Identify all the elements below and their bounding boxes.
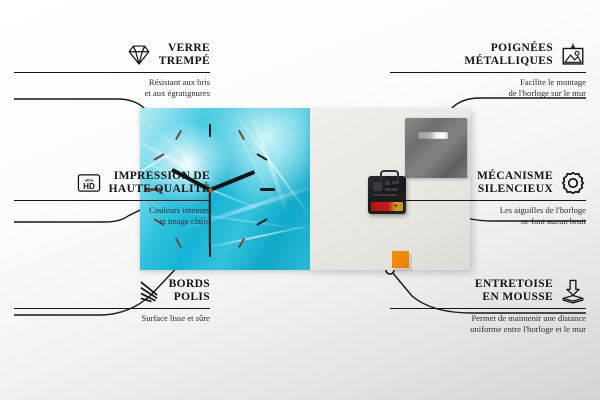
feature-divider	[14, 72, 210, 73]
feature-mecanisme-silencieux[interactable]: MÉCANISME SILENCIEUX Les aiguilles de l'…	[390, 170, 586, 226]
feature-description: Permet de maintenir une distance uniform…	[390, 313, 586, 334]
feature-title: MÉCANISME SILENCIEUX	[477, 170, 553, 196]
tick-11	[175, 130, 182, 141]
svg-text:HD: HD	[83, 182, 95, 191]
arrow-down-foam-icon	[560, 278, 586, 304]
feature-bords-polis[interactable]: BORDS POLIS Surface lisse et sûre	[14, 278, 210, 324]
feature-divider	[14, 200, 210, 201]
gear-icon	[560, 170, 586, 196]
feature-verre-trempe[interactable]: VERRE TREMPÉ Résistant aux bris et aux é…	[14, 42, 210, 98]
feature-description: Surface lisse et sûre	[14, 313, 210, 324]
feature-divider	[14, 308, 210, 309]
feature-title: IMPRESSION DE HAUTE QUALITÉ	[109, 170, 210, 196]
feature-title: POIGNÉES MÉTALLIQUES	[464, 42, 553, 68]
feature-description: Les aiguilles de l'horloge ne font aucun…	[390, 205, 586, 226]
feature-description: Résistant aux bris et aux égratignures	[14, 77, 210, 98]
feature-description: Couleurs intenses et image claire	[14, 205, 210, 226]
feature-impression-haute-qualite[interactable]: ultra HD IMPRESSION DE HAUTE QUALITÉ Cou…	[14, 170, 210, 226]
tick-3	[260, 188, 275, 191]
tick-7	[175, 238, 182, 249]
feature-divider	[390, 72, 586, 73]
feature-title: BORDS POLIS	[169, 278, 210, 304]
feature-header: MÉCANISME SILENCIEUX	[390, 170, 586, 196]
tick-12	[209, 124, 211, 137]
infographic-canvas: + VERRE TREMPÉ Résistant aux bris et aux…	[0, 0, 600, 400]
feature-description: Facilite le montage de l'horloge sur le …	[390, 77, 586, 98]
feature-divider	[390, 308, 586, 309]
polished-edges-icon	[136, 278, 162, 304]
hanger-slot	[418, 132, 448, 139]
feature-header: ultra HD IMPRESSION DE HAUTE QUALITÉ	[14, 170, 210, 196]
ultra-hd-icon: ultra HD	[76, 170, 102, 196]
feature-title: VERRE TREMPÉ	[159, 42, 210, 68]
feature-header: POIGNÉES MÉTALLIQUES	[390, 42, 586, 68]
feature-header: BORDS POLIS	[14, 278, 210, 304]
feature-poignees-metalliques[interactable]: POIGNÉES MÉTALLIQUES Facilite le montage…	[390, 42, 586, 98]
feature-divider	[390, 200, 586, 201]
picture-frame-hanging-icon	[560, 42, 586, 68]
feature-header: ENTRETOISE EN MOUSSE	[390, 278, 586, 304]
feature-entretoise-en-mousse[interactable]: ENTRETOISE EN MOUSSE Permet de maintenir…	[390, 278, 586, 334]
foam-spacer	[392, 251, 409, 268]
diamond-icon	[126, 42, 152, 68]
metal-hanger-plate	[405, 118, 467, 178]
feature-title: ENTRETOISE EN MOUSSE	[475, 278, 553, 304]
feature-header: VERRE TREMPÉ	[14, 42, 210, 68]
